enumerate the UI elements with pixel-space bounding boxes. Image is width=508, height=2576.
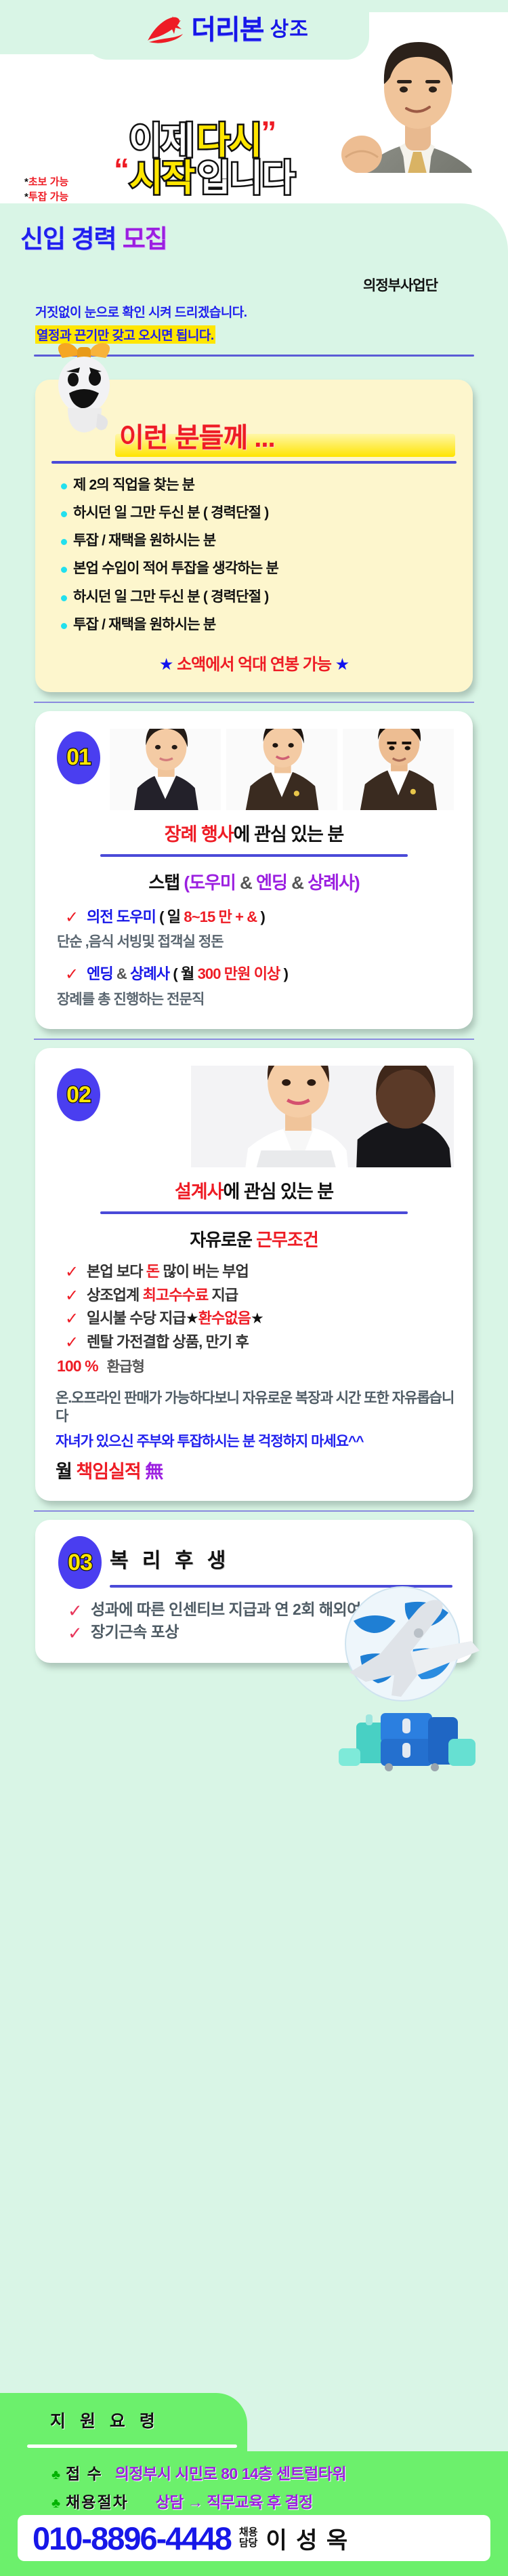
check-icon: ✓ xyxy=(65,1285,78,1306)
hero-branch-label: 의정부사업단 xyxy=(363,275,438,293)
phone-number[interactable]: 010-8896-4448 xyxy=(33,2520,231,2557)
section-01-item-1-desc: 장례를 총 진행하는 전문직 xyxy=(35,988,473,1009)
divider xyxy=(34,1039,474,1040)
quota-label: 책임실적 xyxy=(76,1462,140,1482)
pay-unit: 일 xyxy=(167,908,180,925)
ampersand-1: & xyxy=(240,872,252,893)
item-pre: 본업 보다 xyxy=(87,1263,146,1280)
quote-close-icon: ” xyxy=(261,115,276,150)
list-item: ✓ 본업 보다 돈 많이 버는 부업 xyxy=(65,1262,459,1282)
refund-label: 환급형 xyxy=(107,1359,144,1375)
list-item: ✓ 의전 도우미 ( 일 8~15 만 + & ) xyxy=(65,908,459,927)
divider xyxy=(34,1510,474,1512)
cta-part-1: 신입 경력 xyxy=(20,225,116,253)
staff-photo-2 xyxy=(226,729,337,810)
check-icon: ✓ xyxy=(68,1598,82,1624)
section-01-heading: 장례 행사에 관심 있는 분 xyxy=(35,820,473,846)
quota-unit: 월 xyxy=(56,1462,72,1482)
mascot-character-icon xyxy=(47,338,121,432)
pay-amount: 8~15 만 xyxy=(184,908,232,925)
job-title: 의전 도우미 xyxy=(87,908,156,925)
section-01-item-0-desc: 단순 ,음식 서빙및 접객실 정돈 xyxy=(35,931,473,951)
pay-amount: 300 만원 이상 xyxy=(198,965,280,982)
work-condition-highlight: 근무조건 xyxy=(256,1230,318,1250)
paren-close: ) xyxy=(284,965,288,982)
section-01-divider xyxy=(100,854,408,857)
recruiter-role: 채용 담당 xyxy=(239,2527,258,2550)
intro-line-1: 거짓없이 눈으로 확인 시켜 드리겠습니다. xyxy=(35,302,508,321)
item-highlight: 환수없음 xyxy=(198,1310,251,1327)
section-number-badge-03: 03 xyxy=(58,1536,102,1589)
section-02-heading-hot: 설계사 xyxy=(175,1182,224,1202)
section-number-badge-02: 02 xyxy=(57,1068,100,1121)
footer-title-underline xyxy=(27,2444,237,2448)
section-02-subheading: 자유로운 근무조건 xyxy=(35,1226,473,1251)
hero-tag-item: *초보 가능 xyxy=(24,175,68,190)
headline-word-4: 입니다 xyxy=(197,161,294,197)
check-icon: ✓ xyxy=(65,964,78,985)
brand-suffix: 상조 xyxy=(270,20,309,40)
check-icon: ✓ xyxy=(65,1262,78,1283)
quota-value: 無 xyxy=(145,1462,163,1482)
list-item: 본업 수입이 적어 투잡을 생각하는 분 xyxy=(61,561,458,577)
salary-highlight-text: 소액에서 억대 연봉 가능 xyxy=(177,656,331,674)
footer-row-label: 접 수 xyxy=(66,2461,103,2484)
list-item: ✓ 상조업계 최고수수료 지급 xyxy=(65,1286,459,1306)
section-02-quota-line: 월 책임실적 無 xyxy=(35,1457,473,1483)
role-a: 도우미 xyxy=(189,872,236,893)
work-condition-prefix: 자유로운 xyxy=(190,1230,252,1250)
footer-row-label: 채용절차 xyxy=(66,2489,129,2512)
item-pre: 상조업계 xyxy=(87,1287,143,1304)
staff-photo-3 xyxy=(343,729,454,810)
headline-word-2: 다시 xyxy=(196,123,261,159)
paren-open: ( xyxy=(184,872,189,893)
item-highlight: 돈 xyxy=(146,1263,159,1280)
recruiter-name: 이 성 옥 xyxy=(266,2522,349,2555)
list-item: ✓ 일시불 수당 지급★환수없음★ xyxy=(65,1309,459,1329)
ribbon-logo-icon xyxy=(145,14,187,46)
job-title-2: 상례사 xyxy=(130,965,169,982)
who-title-wrap: 이런 분들께 ... xyxy=(115,419,455,458)
star-left-icon: ★ xyxy=(186,1310,198,1327)
recruiter-role-line1: 채용 xyxy=(239,2527,258,2538)
refund-line: 100 % 환급형 xyxy=(35,1356,473,1376)
paren-open: ( xyxy=(173,965,177,982)
check-icon: ✓ xyxy=(68,1621,82,1646)
section-01-subheading: 스탭 (도우미 & 엔딩 & 상례사) xyxy=(35,869,473,894)
section-03-title: 복 리 후 생 xyxy=(110,1544,230,1573)
star-left-icon: ★ xyxy=(159,656,173,674)
section-01-photos xyxy=(110,729,454,810)
hero-cta: 신입 경력 모집 xyxy=(20,218,167,255)
list-item: 하시던 일 그만 두신 분 ( 경력단절 ) xyxy=(61,505,458,521)
quote-open-icon: “ xyxy=(114,152,129,187)
section-card-02: 02 설계사에 관심 있는 분 자유로운 근무조건 xyxy=(35,1048,473,1501)
star-right-icon: ★ xyxy=(335,656,350,674)
item-post: 지급 xyxy=(208,1287,238,1304)
pay-extra: + & xyxy=(235,908,257,925)
section-01-heading-rest: 에 관심 있는 분 xyxy=(234,824,344,845)
intro-block: 거짓없이 눈으로 확인 시켜 드리겠습니다. 열정과 끈기만 갖고 오시면 됩니… xyxy=(0,293,508,344)
section-number-02: 02 xyxy=(66,1082,91,1108)
section-02-heading: 설계사에 관심 있는 분 xyxy=(35,1177,473,1203)
list-item: ✓ 엔딩 & 상례사 ( 월 300 만원 이상 ) xyxy=(65,965,459,984)
staff-photo-1 xyxy=(110,729,221,810)
section-01-items: ✓ 의전 도우미 ( 일 8~15 만 + & ) xyxy=(35,908,473,927)
paren-open: ( xyxy=(159,908,163,925)
hero-headline: 이제 다시” “시작 입니다 xyxy=(129,123,373,197)
item-pre: 렌탈 가전결합 상품, 만기 후 xyxy=(87,1333,249,1350)
pay-unit: 월 xyxy=(181,965,194,982)
recruiter-role-line2: 담당 xyxy=(239,2537,258,2549)
item-highlight: 최고수수료 xyxy=(143,1287,209,1304)
ampersand: & xyxy=(117,965,127,982)
item-post: 많이 버는 부업 xyxy=(159,1263,249,1280)
headline-word-3: 시작 xyxy=(129,161,194,197)
check-icon: ✓ xyxy=(65,1332,78,1353)
headline-word-1: 이제 xyxy=(129,123,193,159)
refund-percent: 100 % xyxy=(57,1357,98,1375)
section-02-divider xyxy=(100,1211,408,1214)
target-audience-card: 이런 분들께 ... 제 2의 직업을 찾는 분 하시던 일 그만 두신 분 (… xyxy=(35,380,473,692)
footer-row-value: 상담 → 직무교육 후 결정 xyxy=(156,2489,313,2512)
who-title: 이런 분들께 ... xyxy=(115,419,455,457)
section-01-items-2: ✓ 엔딩 & 상례사 ( 월 300 만원 이상 ) xyxy=(35,965,473,984)
list-item: ✓ 렌탈 가전결합 상품, 만기 후 xyxy=(65,1333,459,1352)
ampersand-2: & xyxy=(291,872,303,893)
section-number-badge-01: 01 xyxy=(57,731,100,784)
paren-close: ) xyxy=(354,872,360,893)
section-card-01: 01 xyxy=(35,711,473,1029)
section-02-items: ✓ 본업 보다 돈 많이 버는 부업 ✓ 상조업계 최고수수료 지급 ✓ 일시불… xyxy=(35,1262,473,1352)
footer-row: ♣ 접 수 의정부시 시민로 80 14층 센트럴타워 xyxy=(0,2461,508,2489)
list-item: 투잡 / 재택을 원하시는 분 xyxy=(61,617,458,633)
salary-highlight: ★ 소액에서 억대 연봉 가능 ★ xyxy=(35,651,473,675)
section-02-paragraph-blue: 자녀가 있으신 주부와 투잡하시는 분 걱정하지 마세요^^ xyxy=(35,1433,473,1451)
list-item: 하시던 일 그만 두신 분 ( 경력단절 ) xyxy=(61,589,458,605)
hero-tag-label: 투잡 가능 xyxy=(28,191,68,203)
cta-part-2: 모집 xyxy=(123,225,167,253)
section-card-03: 03 복 리 후 생 ✓ 성과에 따른 인센티브 지급과 연 2회 해외여행 ✓… xyxy=(35,1520,473,1663)
brand-logo: 더리본 상조 xyxy=(85,0,369,60)
application-footer: 지 원 요 령 ♣ 접 수 의정부시 시민로 80 14층 센트럴타워 ♣ 채용… xyxy=(0,2393,508,2576)
star-right-icon: ★ xyxy=(251,1310,263,1327)
airplane-globe-luggage-icon xyxy=(316,1568,485,1771)
role-b: 엔딩 xyxy=(256,872,287,893)
contact-phone-box[interactable]: 010-8896-4448 채용 담당 이 성 옥 xyxy=(18,2515,490,2561)
hero-tag-item: *투잡 가능 xyxy=(24,190,68,205)
section-02-heading-rest: 에 관심 있는 분 xyxy=(223,1182,333,1202)
footer-row: ♣ 채용절차 상담 → 직무교육 후 결정 xyxy=(0,2489,508,2518)
list-item: 제 2의 직업을 찾는 분 xyxy=(61,477,458,494)
check-icon: ✓ xyxy=(65,907,78,928)
target-audience-list: 제 2의 직업을 찾는 분 하시던 일 그만 두신 분 ( 경력단절 ) 투잡 … xyxy=(35,477,473,633)
brand-name: 더리본 xyxy=(191,16,263,43)
footer-title: 지 원 요 령 xyxy=(50,2408,160,2432)
benefit-text: 장기근속 포상 xyxy=(91,1623,179,1641)
list-item: 투잡 / 재택을 원하시는 분 xyxy=(61,533,458,549)
footer-info-rows: ♣ 접 수 의정부시 시민로 80 14층 센트럴타워 ♣ 채용절차 상담 → … xyxy=(0,2461,508,2518)
role-c: 상례사 xyxy=(308,872,354,893)
hero-tag-list: *초보 가능 *투잡 가능 xyxy=(24,175,68,205)
item-pre: 일시불 수당 지급 xyxy=(87,1310,186,1327)
section-02-paragraph: 온.오프라인 판매가 가능하다보니 자유로운 복장과 시간 또한 자유롭습니다 xyxy=(35,1390,473,1426)
role-label: 스탭 xyxy=(148,872,179,893)
consulting-photo xyxy=(191,1066,454,1167)
divider xyxy=(34,702,474,703)
job-title: 엔딩 xyxy=(87,965,113,982)
paren-close: ) xyxy=(260,908,264,925)
section-number-01: 01 xyxy=(66,744,91,771)
section-01-heading-hot: 장례 행사 xyxy=(165,824,234,845)
club-icon: ♣ xyxy=(51,2496,60,2512)
section-number-03: 03 xyxy=(68,1550,92,1576)
who-divider xyxy=(51,461,457,464)
check-icon: ✓ xyxy=(65,1308,78,1329)
footer-row-value: 의정부시 시민로 80 14층 센트럴타워 xyxy=(115,2461,346,2484)
hero-tag-label: 초보 가능 xyxy=(28,176,68,188)
hero-banner: 더리본 상조 이제 다시” “시작 입니다 *초보 가능 *투잡 가능 신입 경… xyxy=(0,0,508,293)
club-icon: ♣ xyxy=(51,2468,60,2483)
